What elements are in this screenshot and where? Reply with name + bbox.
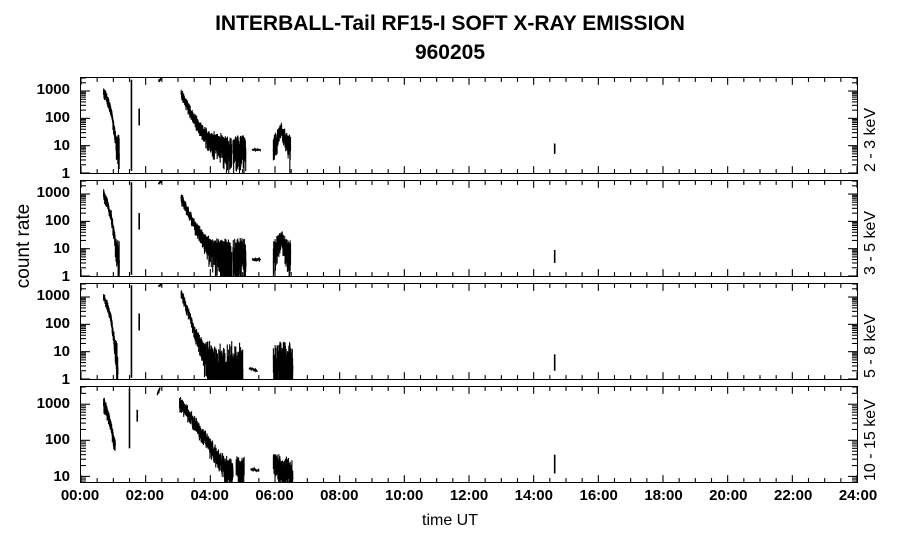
y-axis-tick-labels: 101001000 [0,386,74,483]
x-axis-tick-label: 00:00 [61,487,99,504]
x-axis-tick-label: 18:00 [644,487,682,504]
panel-data-trace [104,181,555,276]
y-axis-tick-label: 1 [62,375,70,385]
x-axis-tick-labels: 00:0002:0004:0006:0008:0010:0012:0014:00… [0,487,900,509]
panel-data-trace [104,78,555,173]
energy-band-label: 10 - 15 keV [862,481,900,499]
plot-panel [80,386,858,483]
panel-axis-ticks [81,284,857,379]
panel-plot-area [81,78,857,173]
y-axis-tick-label: 10 [53,244,70,254]
y-axis-tick-labels: 1101001000 [0,283,74,380]
y-axis-tick-label: 1 [62,169,70,179]
y-axis-tick-label: 100 [45,113,70,123]
y-axis-tick-label: 100 [45,319,70,329]
figure-subtitle: 960205 [0,38,900,68]
y-axis-tick-labels: 1101001000 [0,180,74,277]
panel-plot-area [81,284,857,379]
y-axis-tick-label: 1000 [37,291,70,301]
x-axis-tick-label: 08:00 [320,487,358,504]
y-axis-tick-label: 1000 [37,188,70,198]
x-axis-tick-label: 16:00 [580,487,618,504]
y-axis-tick-label: 100 [45,216,70,226]
y-axis-tick-label: 1 [62,272,70,282]
panel-data-trace [104,388,555,482]
x-axis-tick-label: 12:00 [450,487,488,504]
x-axis-tick-label: 04:00 [191,487,229,504]
energy-band-label: 3 - 5 keV [862,275,900,293]
x-axis-tick-label: 14:00 [515,487,553,504]
y-axis-tick-label: 10 [53,472,70,482]
panel-plot-area [81,387,857,482]
figure-title: INTERBALL-Tail RF15-I SOFT X-RAY EMISSIO… [0,10,900,38]
panel-axis-ticks [81,387,857,482]
x-axis-label: time UT [0,512,900,530]
plot-panel [80,180,858,277]
y-axis-tick-label: 100 [45,435,70,445]
panel-data-trace [104,284,555,379]
panel-plot-area [81,181,857,276]
energy-band-label: 2 - 3 keV [862,172,900,190]
x-axis-tick-label: 06:00 [255,487,293,504]
y-axis-tick-label: 1000 [37,399,70,409]
x-axis-tick-label: 22:00 [774,487,812,504]
figure-title-block: INTERBALL-Tail RF15-I SOFT X-RAY EMISSIO… [0,10,900,68]
x-axis-tick-label: 02:00 [126,487,164,504]
y-axis-tick-label: 10 [53,347,70,357]
y-axis-tick-label: 1000 [37,85,70,95]
plot-panel [80,283,858,380]
y-axis-tick-labels: 1101001000 [0,77,74,174]
x-axis-tick-label: 10:00 [385,487,423,504]
plot-panel [80,77,858,174]
x-axis-tick-label: 20:00 [709,487,747,504]
energy-band-label: 5 - 8 keV [862,378,900,396]
y-axis-tick-label: 10 [53,141,70,151]
xray-emission-figure: INTERBALL-Tail RF15-I SOFT X-RAY EMISSIO… [0,0,900,548]
